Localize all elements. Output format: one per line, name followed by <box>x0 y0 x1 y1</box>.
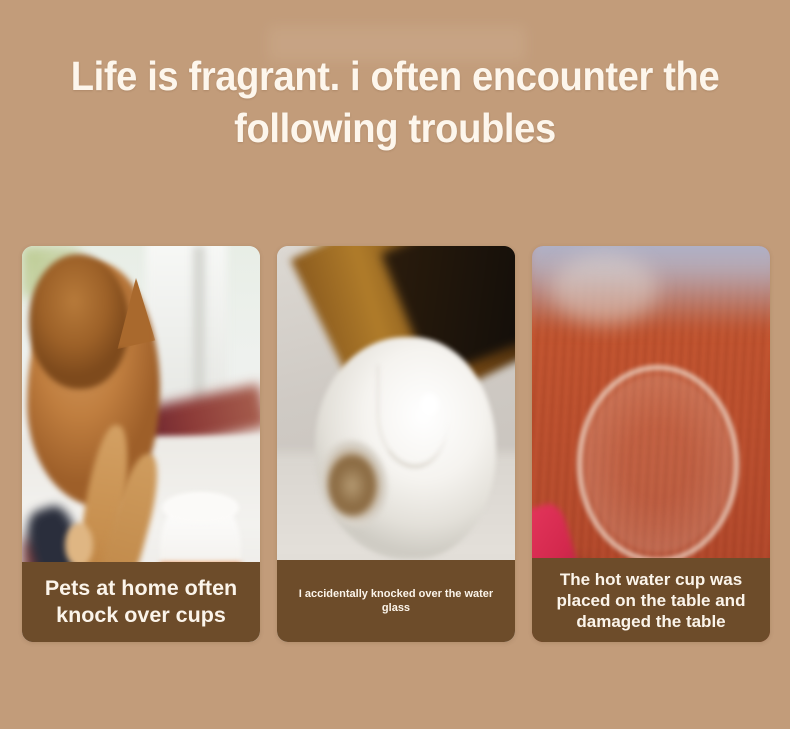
trouble-card-table-damage[interactable]: The hot water cup was placed on the tabl… <box>532 246 770 642</box>
promo-page: Life is fragrant. i often encounter the … <box>0 0 790 729</box>
wall-edge-shape <box>193 246 205 412</box>
trouble-card-pets[interactable]: Pets at home often knock over cups <box>22 246 260 642</box>
light-glare-shape <box>551 254 658 325</box>
cup-rim-shape <box>162 492 238 524</box>
cat-paw-shape <box>65 523 94 567</box>
cup-highlight-shape <box>420 393 439 417</box>
page-title: Life is fragrant. i often encounter the … <box>28 50 763 154</box>
card-caption-pets: Pets at home often knock over cups <box>22 562 260 642</box>
card-caption-knocked-glass: I accidentally knocked over the water gl… <box>277 560 515 642</box>
cup-base-inner-shape <box>329 456 374 515</box>
cat-head-shape <box>29 254 129 389</box>
cup-rim-curve-shape <box>377 365 448 468</box>
trouble-card-knocked-glass[interactable]: I accidentally knocked over the water gl… <box>277 246 515 642</box>
heat-ring-shape <box>577 365 739 563</box>
card-caption-table-damage: The hot water cup was placed on the tabl… <box>532 558 770 642</box>
trouble-card-row: Pets at home often knock over cups I acc… <box>22 246 770 642</box>
